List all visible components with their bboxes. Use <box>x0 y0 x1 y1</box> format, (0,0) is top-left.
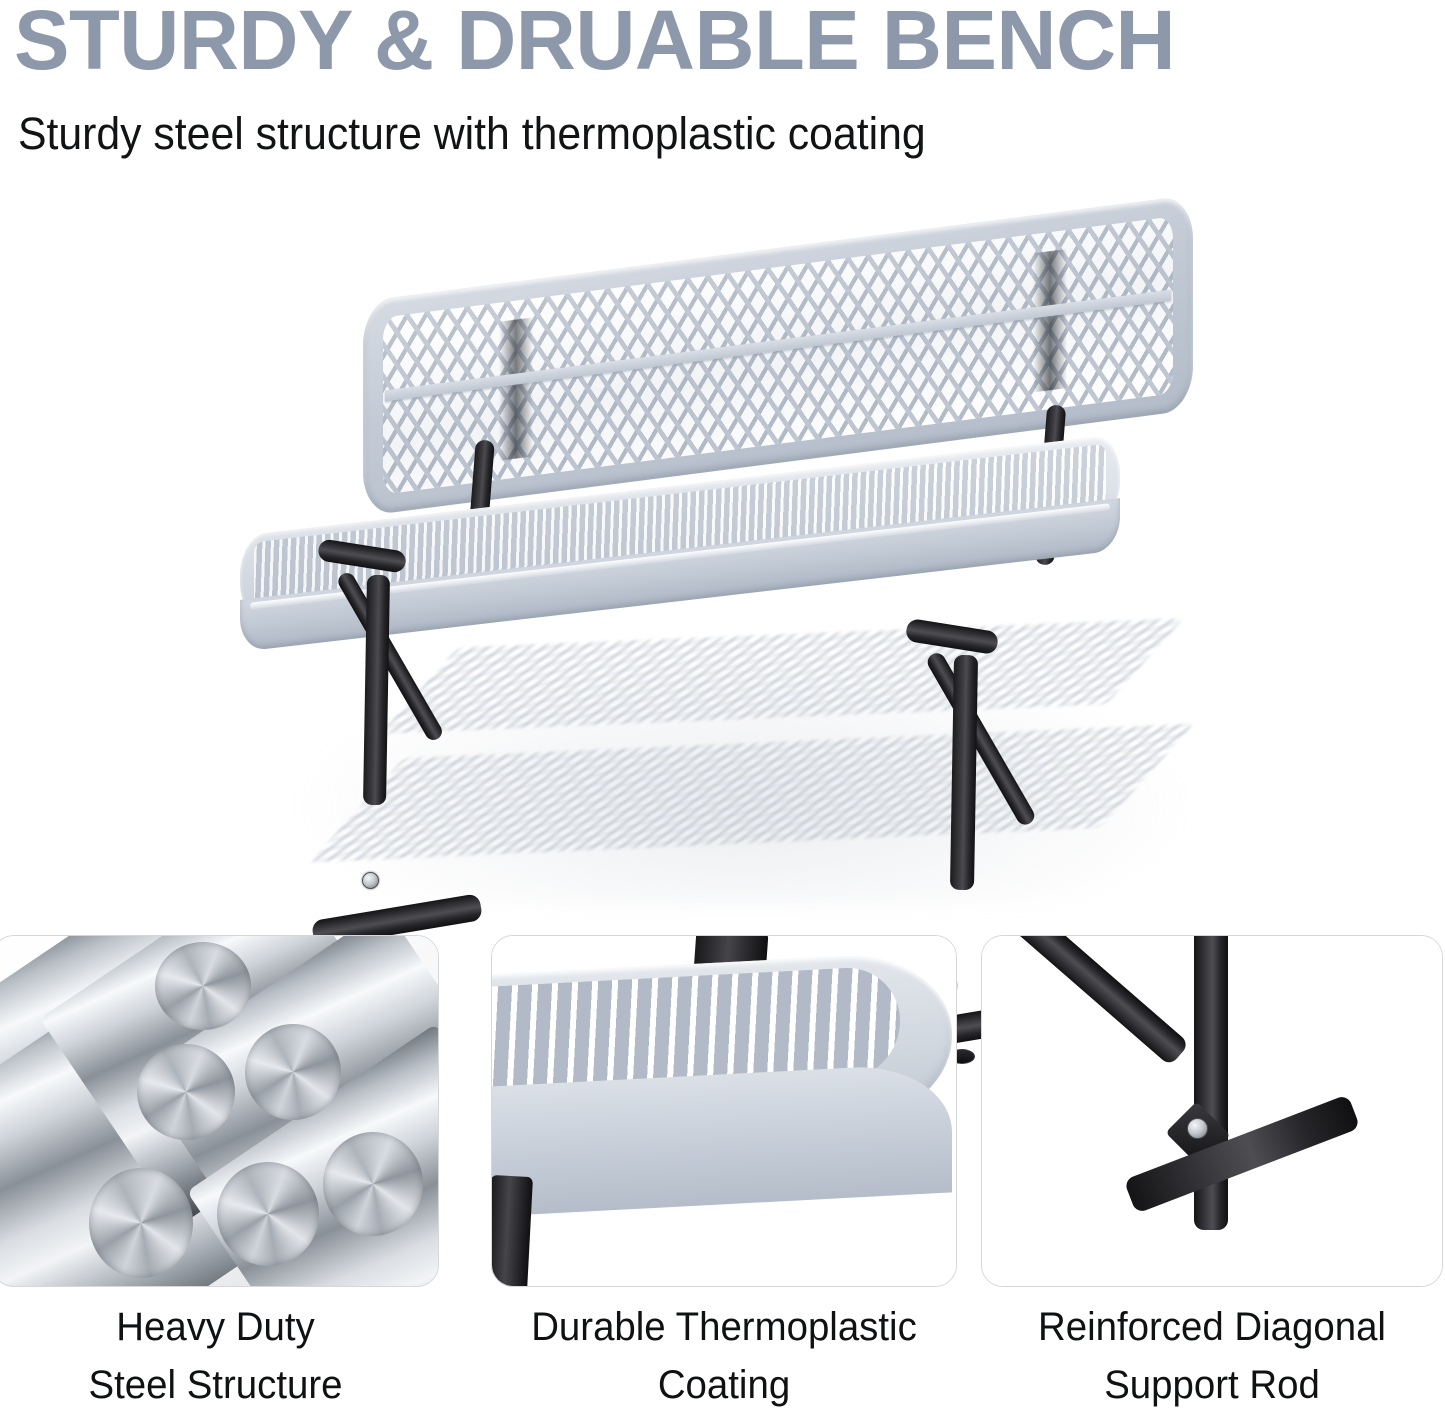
support-rod-bolt-left <box>362 872 379 889</box>
caption-support-rod: Reinforced Diagonal Support Rod <box>990 1298 1434 1414</box>
feature-panel-steel-structure <box>0 935 439 1287</box>
closeup-t-foot <box>1124 1094 1361 1214</box>
steel-bar-end-face <box>245 1024 341 1120</box>
page-headline: STURDY & DRUABLE BENCH <box>14 0 1175 89</box>
seat-closeup-photo <box>492 936 956 1286</box>
caption-thermoplastic-coating: Durable Thermoplastic Coating <box>500 1298 947 1414</box>
caption-line: Coating <box>500 1356 947 1414</box>
closeup-seat-rolled-edge <box>491 1062 952 1219</box>
feature-panel-support-rod <box>981 935 1443 1287</box>
caption-line: Durable Thermoplastic <box>500 1298 947 1356</box>
page-subheadline: Sturdy steel structure with thermoplasti… <box>18 108 926 160</box>
closeup-rod-bolt <box>1187 1118 1208 1139</box>
steel-bar-end-face <box>323 1132 423 1236</box>
bench-leg-left <box>363 575 390 805</box>
caption-line: Steel Structure <box>1 1356 430 1414</box>
hero-product-image <box>0 185 1445 930</box>
closeup-leg-lower <box>491 1175 533 1287</box>
feature-panel-thermoplastic-coating <box>491 935 957 1287</box>
steel-bar-end-face <box>155 942 251 1030</box>
feature-panel-row <box>0 935 1445 1287</box>
caption-line: Reinforced Diagonal <box>990 1298 1434 1356</box>
steel-bar-end-face <box>137 1044 235 1140</box>
steel-bar-end-face <box>89 1168 193 1278</box>
mesh-shadow-right <box>1033 249 1067 392</box>
feature-captions-row: Heavy Duty Steel Structure Durable Therm… <box>0 1298 1445 1427</box>
caption-line: Heavy Duty <box>1 1298 430 1356</box>
mesh-shadow-left <box>499 317 533 460</box>
steel-bars-photo <box>0 936 438 1286</box>
closeup-diagonal-rod <box>1004 935 1190 1066</box>
support-rod-closeup-photo <box>982 936 1442 1286</box>
caption-steel-structure: Heavy Duty Steel Structure <box>1 1298 430 1414</box>
caption-line: Support Rod <box>990 1356 1434 1414</box>
bench-leg-right <box>950 655 978 890</box>
steel-bar-end-face <box>217 1162 319 1266</box>
